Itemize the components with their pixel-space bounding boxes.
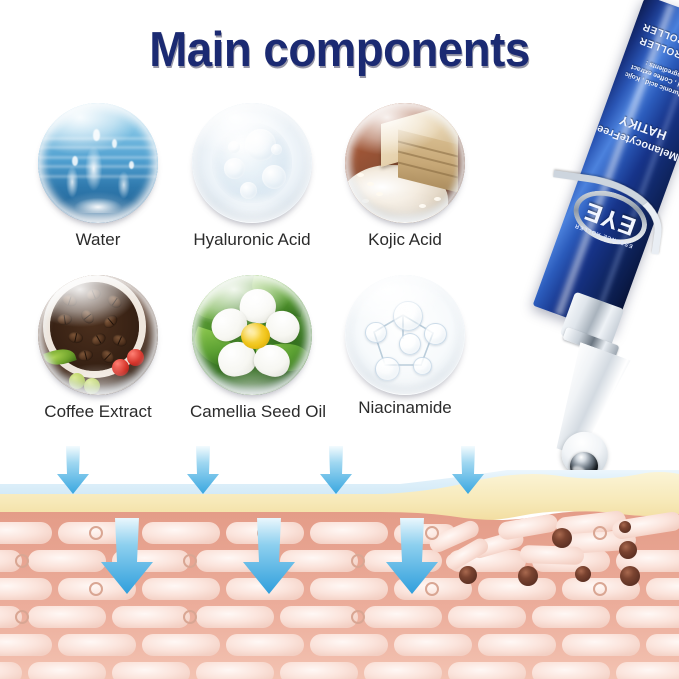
ingredient-item-camellia-seed-oil: Camellia Seed Oil (190, 275, 314, 422)
ingredient-item-niacinamide: Niacinamide (343, 275, 467, 418)
ingredient-item-hyaluronic-acid: Hyaluronic Acid (190, 103, 314, 250)
ingredient-label: Coffee Extract (36, 402, 160, 422)
penetration-arrow-small (450, 446, 486, 494)
penetration-arrow-small (55, 446, 91, 494)
ingredient-item-water: Water (36, 103, 160, 250)
penetration-arrow-small (318, 446, 354, 494)
ingredient-item-coffee-extract: Coffee Extract (36, 275, 160, 422)
coffee-beans-bowl-icon (38, 275, 158, 395)
penetration-arrow-large (240, 518, 298, 594)
penetration-arrow-large (98, 518, 156, 594)
penetration-arrow-large (383, 518, 441, 594)
molecule-structure-icon (345, 275, 465, 395)
ingredient-label: Kojic Acid (343, 230, 467, 250)
infographic-page: Main components Water (0, 0, 679, 679)
ingredient-label: Niacinamide (343, 398, 467, 418)
penetration-arrow-small (185, 446, 221, 494)
ingredient-item-kojic-acid: Kojic Acid (343, 103, 467, 250)
rice-wooden-box-icon (345, 103, 465, 223)
ingredient-label: Water (36, 230, 160, 250)
ingredient-label: Camellia Seed Oil (190, 402, 314, 422)
camellia-flower-icon (192, 275, 312, 395)
water-splash-icon (38, 103, 158, 223)
ingredient-label: Hyaluronic Acid (190, 230, 314, 250)
water-bubble-icon (192, 103, 312, 223)
product-tube: EYE ROLLER 360 ROLLER Ingredients : Hyal… (470, 60, 679, 490)
